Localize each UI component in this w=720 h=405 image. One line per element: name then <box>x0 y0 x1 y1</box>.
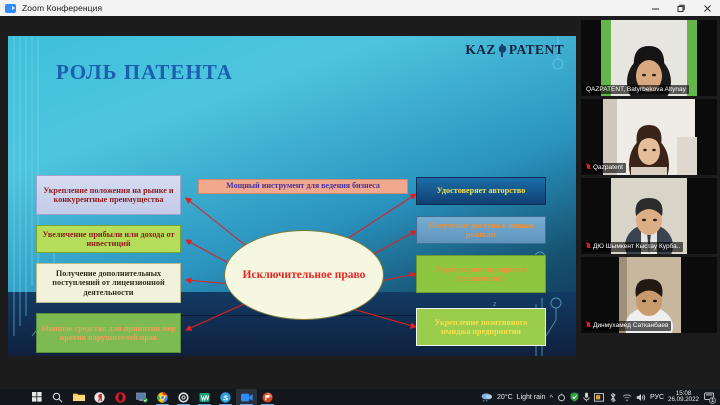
search-icon <box>52 392 63 403</box>
clock-date: 26.09.2022 <box>668 397 699 404</box>
minimize-icon[interactable] <box>642 0 668 16</box>
slide-box-text: Получение доступа к новым рынкам <box>421 221 541 239</box>
slide-box-text: Мощный инструмент для ведения бизнеса <box>226 182 380 191</box>
participant-tile[interactable]: QAZPATENT, Batyrbekova Altynay <box>581 20 717 96</box>
slide-box-new-markets: Получение доступа к новым рынкам <box>416 216 546 244</box>
slide-box-text: Увеличение прибыли или дохода от инвести… <box>41 230 176 248</box>
circle-icon[interactable] <box>557 393 566 402</box>
participant-label: QAZPATENT, Batyrbekova Altynay <box>583 85 689 95</box>
notification-center-button[interactable]: 1 <box>703 391 715 403</box>
slide-center-ellipse: Исключительное право <box>224 230 384 320</box>
participant-name: Qazpatent <box>593 164 623 171</box>
participant-name: QAZPATENT, Batyrbekova Altynay <box>586 86 686 93</box>
mic-muted-icon <box>586 164 591 172</box>
participant-tile[interactable]: ДЮ Шымкент Кыстау Курба.. <box>581 178 717 254</box>
slide-box-profit: Увеличение прибыли или дохода от инвести… <box>36 225 181 253</box>
system-tray: 20°C Light rain ^ <box>481 391 720 404</box>
gear-icon <box>178 392 189 403</box>
language-indicator[interactable]: РУС <box>650 394 664 401</box>
yandex-icon <box>94 392 105 403</box>
settings[interactable] <box>173 389 194 405</box>
remote-desktop[interactable] <box>131 389 152 405</box>
slide-box-positive-image: Укрепление позитивного имиджа предприяти… <box>416 308 546 346</box>
slide-box-text: Укрепление позитивного имиджа предприяти… <box>421 318 541 336</box>
document-icon <box>199 392 210 403</box>
word-app[interactable] <box>194 389 215 405</box>
slide-center-text: Исключительное право <box>243 268 366 282</box>
search-button[interactable] <box>47 389 68 405</box>
participant-tile[interactable]: Динмухамед Сатканбаев <box>581 257 717 333</box>
mic-icon[interactable] <box>583 392 590 402</box>
shield-check-icon[interactable] <box>570 392 579 402</box>
participant-tile[interactable]: Qazpatent <box>581 99 717 175</box>
folder-icon <box>73 392 85 402</box>
restore-icon[interactable] <box>668 0 694 16</box>
circle-app-icon <box>220 392 231 403</box>
slide-box-text: Удостоверяет приоритет (первенство) <box>421 265 541 283</box>
slide-box-business-tool: Мощный инструмент для ведения бизнеса <box>198 179 408 194</box>
participant-name: ДЮ Шымкент Кыстау Курба.. <box>593 243 680 250</box>
shared-slide: KAZ PATENT РОЛЬ ПАТЕНТА <box>8 36 576 356</box>
windows-icon <box>32 392 42 402</box>
start-button[interactable] <box>26 389 47 405</box>
zoom-app[interactable] <box>236 389 257 405</box>
yandex-browser[interactable] <box>89 389 110 405</box>
window-titlebar: Zoom Конференция <box>0 0 720 16</box>
screen-icon[interactable] <box>594 393 604 402</box>
monitor-icon <box>136 392 148 403</box>
close-icon[interactable] <box>694 0 720 16</box>
powerpoint-app[interactable] <box>257 389 278 405</box>
taskbar-items <box>0 389 278 405</box>
zoom-camera-icon <box>241 393 253 402</box>
weather-rain-icon[interactable] <box>481 392 493 402</box>
window-title: Zoom Конференция <box>22 3 102 13</box>
slide-box-text: Укрепление положения на рынке и конкурен… <box>41 186 176 204</box>
notification-badge: 1 <box>709 397 716 404</box>
clock[interactable]: 15:08 26.09.2022 <box>668 391 699 404</box>
slide-box-enforcement: Мощное средство для принятия мер против … <box>36 313 181 353</box>
volume-icon[interactable] <box>636 393 646 402</box>
slide-box-text: Удостоверяет авторство <box>437 186 526 195</box>
mic-muted-icon <box>586 322 591 330</box>
slide-box-text: Получение дополнительных поступлений от … <box>41 269 176 297</box>
participant-label: Динмухамед Сатканбаев <box>583 321 671 332</box>
weather-temperature[interactable]: 20°C <box>497 394 513 401</box>
slide-box-text: Мощное средство для принятия мер против … <box>41 324 176 342</box>
windows-taskbar: 20°C Light rain ^ <box>0 389 720 405</box>
window-controls <box>642 0 720 16</box>
participant-strip: QAZPATENT, Batyrbekova Altynay <box>578 16 720 389</box>
wifi-icon[interactable] <box>622 393 632 402</box>
weather-condition[interactable]: Light rain <box>517 394 546 401</box>
participant-name: Динмухамед Сатканбаев <box>593 322 668 329</box>
chrome-icon <box>157 392 168 403</box>
slide-box-licensing: Получение дополнительных поступлений от … <box>36 263 181 303</box>
slide-box-priority: Удостоверяет приоритет (первенство) <box>416 255 546 293</box>
slide-box-market-position: Укрепление положения на рынке и конкурен… <box>36 175 181 215</box>
opera-browser[interactable] <box>110 389 131 405</box>
slide-box-authorship: Удостоверяет авторство <box>416 177 546 205</box>
chevron-up-icon[interactable]: ^ <box>549 393 553 402</box>
powerpoint-icon <box>262 392 273 403</box>
opera-icon <box>115 392 126 403</box>
participant-label: Qazpatent <box>583 163 626 174</box>
meeting-stage: KAZ PATENT РОЛЬ ПАТЕНТА <box>0 16 720 389</box>
slide-number: 2 <box>493 302 496 308</box>
google-chrome[interactable] <box>152 389 173 405</box>
file-explorer[interactable] <box>68 389 89 405</box>
participant-label: ДЮ Шымкент Кыстау Курба.. <box>583 242 683 253</box>
zoom-camera-icon <box>5 4 16 13</box>
skype-app[interactable] <box>215 389 236 405</box>
mic-muted-icon <box>586 243 591 251</box>
bluetooth-icon[interactable] <box>608 393 618 402</box>
zoom-window: Zoom Конференция <box>0 0 720 405</box>
